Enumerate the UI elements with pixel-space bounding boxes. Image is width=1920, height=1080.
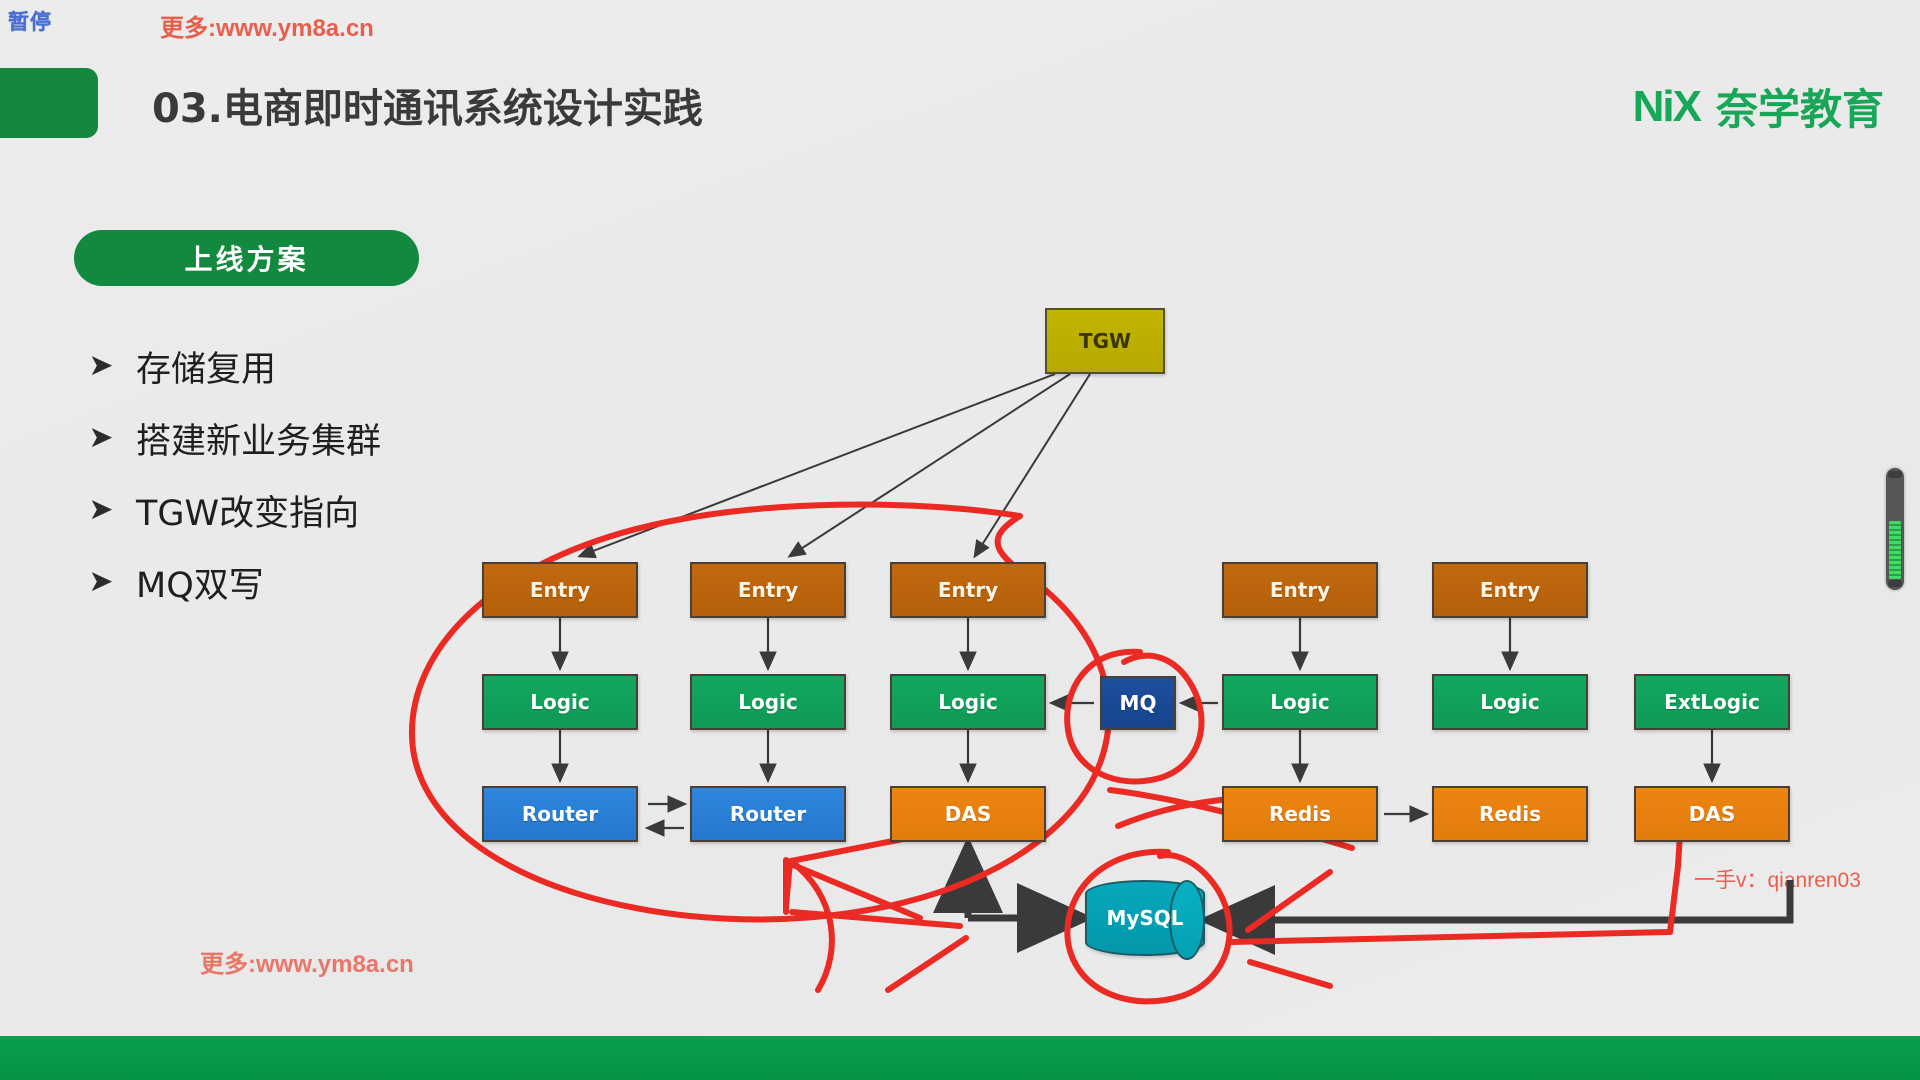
diagram-node-entry5: Entry xyxy=(1432,562,1588,618)
diagram-node-redis2: Redis xyxy=(1432,786,1588,842)
diagram-node-entry1: Entry xyxy=(482,562,638,618)
volume-slider[interactable] xyxy=(1886,468,1904,590)
diagram-node-extlogic: ExtLogic xyxy=(1634,674,1790,730)
slider-cap-top xyxy=(1888,471,1902,478)
tgw-fanout-edges xyxy=(580,374,1090,556)
slide-canvas: 暂停 更多:www.ym8a.cn 更多:www.ym8a.cn 一手v：qia… xyxy=(0,0,1920,1080)
diagram-node-entry3: Entry xyxy=(890,562,1046,618)
architecture-diagram xyxy=(0,0,1920,1080)
diagram-node-entry4: Entry xyxy=(1222,562,1378,618)
slider-cap-bottom xyxy=(1888,580,1902,587)
diagram-node-logic1: Logic xyxy=(482,674,638,730)
diagram-node-router2: Router xyxy=(690,786,846,842)
player-bottom-bar[interactable] xyxy=(0,1036,1920,1080)
diagram-node-tgw: TGW xyxy=(1045,308,1165,374)
diagram-node-das2: DAS xyxy=(1634,786,1790,842)
mysql-label: MySQL xyxy=(1106,906,1183,930)
diagram-node-logic3: Logic xyxy=(890,674,1046,730)
slider-fill xyxy=(1889,521,1901,579)
diagram-node-logic5: Logic xyxy=(1432,674,1588,730)
diagram-node-mq: MQ xyxy=(1100,676,1176,730)
diagram-node-redis1: Redis xyxy=(1222,786,1378,842)
diagram-node-router1: Router xyxy=(482,786,638,842)
annotation-right-pointer xyxy=(1232,834,1680,986)
diagram-node-logic4: Logic xyxy=(1222,674,1378,730)
diagram-node-logic2: Logic xyxy=(690,674,846,730)
diagram-node-das1: DAS xyxy=(890,786,1046,842)
diagram-node-entry2: Entry xyxy=(690,562,846,618)
diagram-node-mysql: MySQL xyxy=(1085,880,1205,956)
